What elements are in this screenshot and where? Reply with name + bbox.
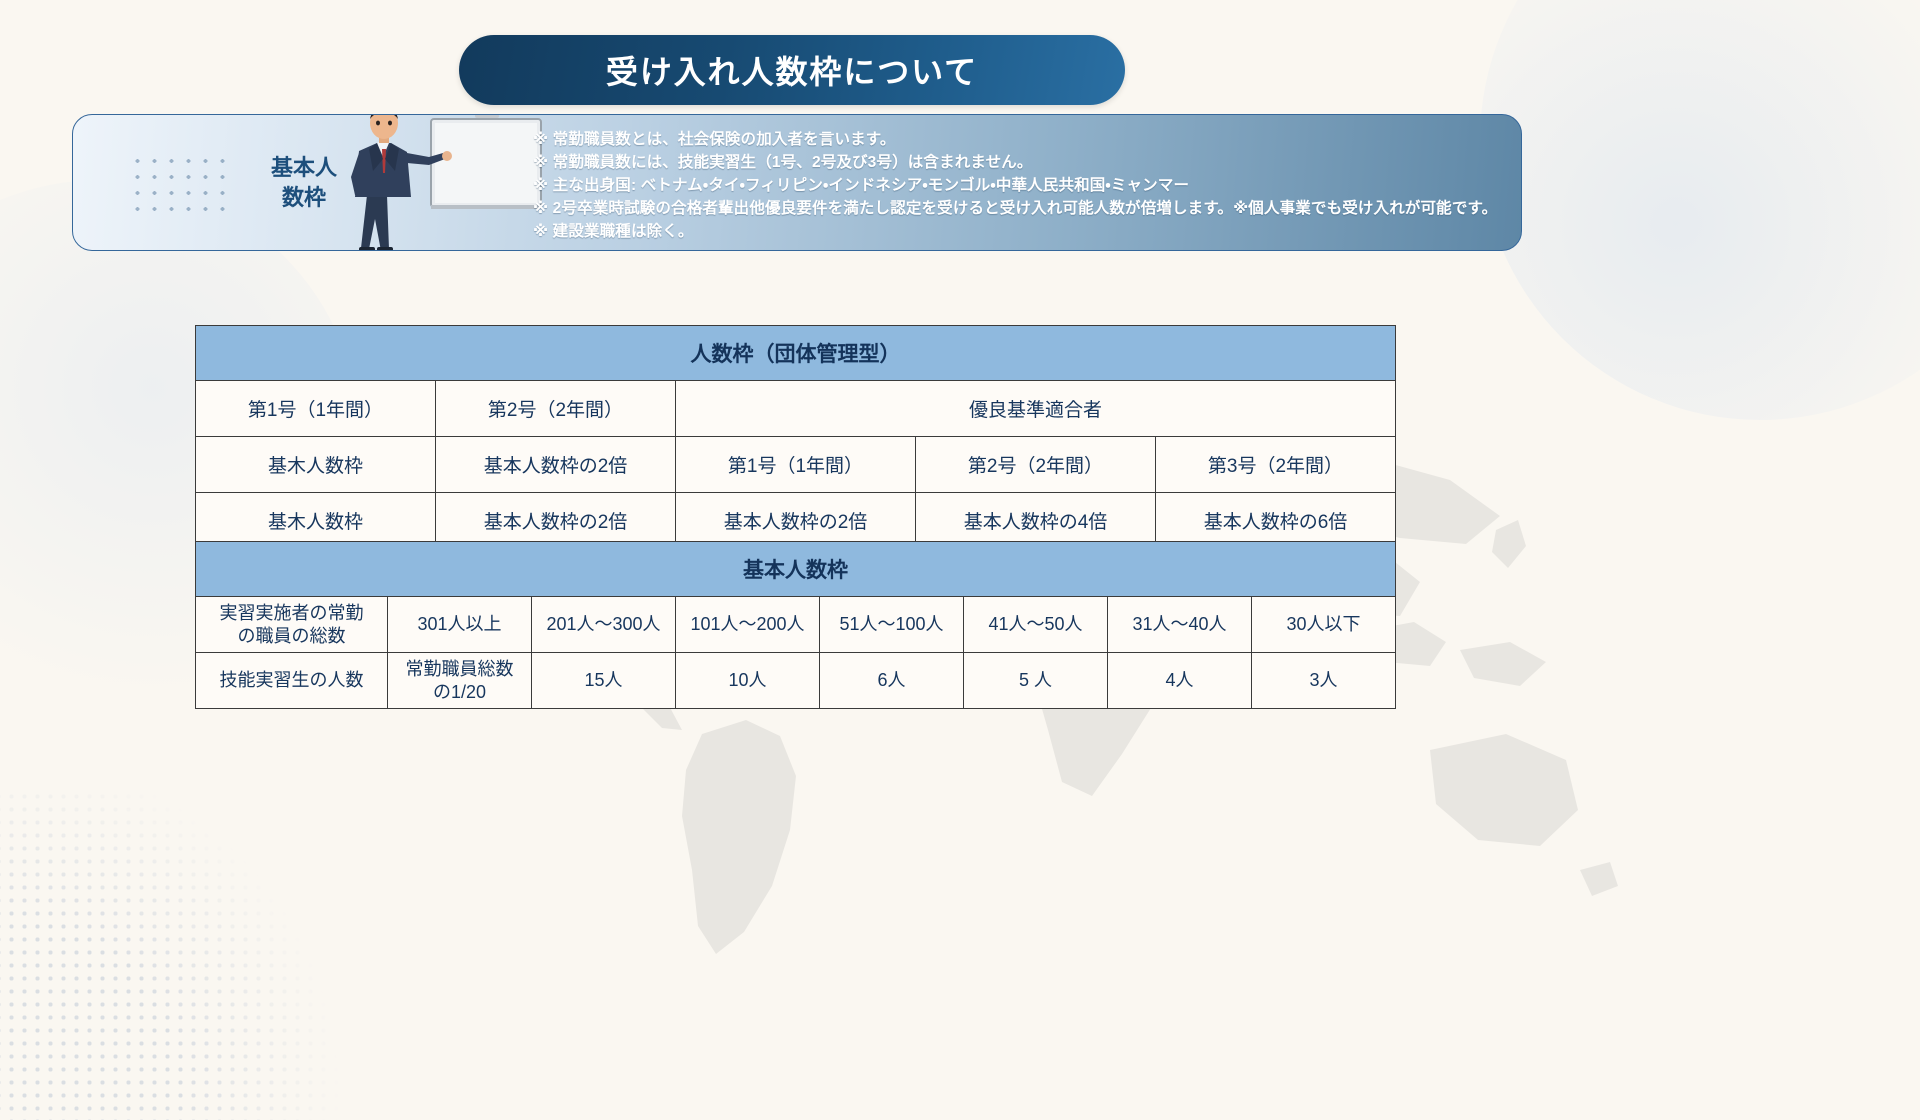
page-title-banner: 受け入れ人数枠について [459, 35, 1125, 105]
table2-count: 6人 [820, 653, 964, 709]
table2-tier: 101人〜200人 [676, 597, 820, 653]
table-row: 人数枠（団体管理型） [196, 326, 1396, 381]
table2-count: 4人 [1108, 653, 1252, 709]
table2-row-label-trainees: 技能実習生の人数 [196, 653, 388, 709]
note-line: ※ 2号卒業時試験の合格者輩出他優良要件を満たし認定を受けると受け入れ可能人数が… [533, 197, 1505, 220]
whiteboard-icon [431, 114, 541, 209]
note-line: ※ 主な出身国: ベトナム・タイ・フィリピン・インドネシア・モンゴル・中華人民共… [533, 174, 1505, 197]
table1-r2-c5: 第3号（2年間） [1156, 437, 1396, 493]
table1-r2-c4: 第2号（2年間） [916, 437, 1156, 493]
table1-r1-c2: 第2号（2年間） [436, 381, 676, 437]
table2-header: 基本人数枠 [196, 542, 1396, 597]
quota-table-group-managed: 人数枠（団体管理型） 第1号（1年間） 第2号（2年間） 優良基準適合者 基木人… [195, 325, 1396, 549]
note-line: ※ 常勤職員数には、技能実習生（1号、2号及び3号）は含まれません。 [533, 151, 1505, 174]
basic-quota-table: 基本人数枠 実習実施者の常勤 の職員の総数 301人以上 201人〜300人 1… [195, 541, 1396, 709]
dot-pattern-panel [129, 153, 233, 217]
table2-tier: 30人以下 [1252, 597, 1396, 653]
table2-count: 3人 [1252, 653, 1396, 709]
notes-list: ※ 常勤職員数とは、社会保険の加入者を言います。 ※ 常勤職員数には、技能実習生… [533, 128, 1505, 243]
table2-tier: 301人以上 [388, 597, 532, 653]
table2-count: 15人 [532, 653, 676, 709]
table1-r2-c1: 基木人数枠 [196, 437, 436, 493]
table-row: 基本人数枠 [196, 542, 1396, 597]
table1-r1-c1: 第1号（1年間） [196, 381, 436, 437]
table2-count: 5 人 [964, 653, 1108, 709]
background-glow-right [1480, 0, 1920, 420]
table1-header: 人数枠（団体管理型） [196, 326, 1396, 381]
note-line: ※ 常勤職員数とは、社会保険の加入者を言います。 [533, 128, 1505, 151]
page-title: 受け入れ人数枠について [606, 47, 978, 93]
table2-row-label-staff: 実習実施者の常勤 の職員の総数 [196, 597, 388, 653]
table2-tier: 41人〜50人 [964, 597, 1108, 653]
table2-row-label-staff-line1: 実習実施者の常勤 [198, 602, 385, 625]
table-row: 技能実習生の人数 常勤職員総数 の1/20 15人 10人 6人 5 人 4人 … [196, 653, 1396, 709]
table2-tier: 51人〜100人 [820, 597, 964, 653]
table2-count: 10人 [676, 653, 820, 709]
table1-r1-c3: 優良基準適合者 [676, 381, 1396, 437]
table2-tier: 201人〜300人 [532, 597, 676, 653]
table2-count: 常勤職員総数 の1/20 [388, 653, 532, 709]
table-row: 基木人数枠 基本人数枠の2倍 第1号（1年間） 第2号（2年間） 第3号（2年間… [196, 437, 1396, 493]
table2-row-label-staff-line2: の職員の総数 [198, 625, 385, 648]
table2-tier: 31人〜40人 [1108, 597, 1252, 653]
info-panel: 基本人 数枠 ※ 常勤職員数とは、社会保 [72, 114, 1522, 251]
table2-count-line2: の1/20 [390, 681, 529, 704]
businessman-illustration [325, 114, 555, 251]
note-line: ※ 建設業職種は除く。 [533, 220, 1505, 243]
table2-count-line1: 常勤職員総数 [390, 658, 529, 681]
table1-r2-c2: 基本人数枠の2倍 [436, 437, 676, 493]
table1-r2-c3: 第1号（1年間） [676, 437, 916, 493]
table-row: 第1号（1年間） 第2号（2年間） 優良基準適合者 [196, 381, 1396, 437]
dot-pattern-bottom-left [0, 790, 360, 1120]
table-row: 実習実施者の常勤 の職員の総数 301人以上 201人〜300人 101人〜20… [196, 597, 1396, 653]
